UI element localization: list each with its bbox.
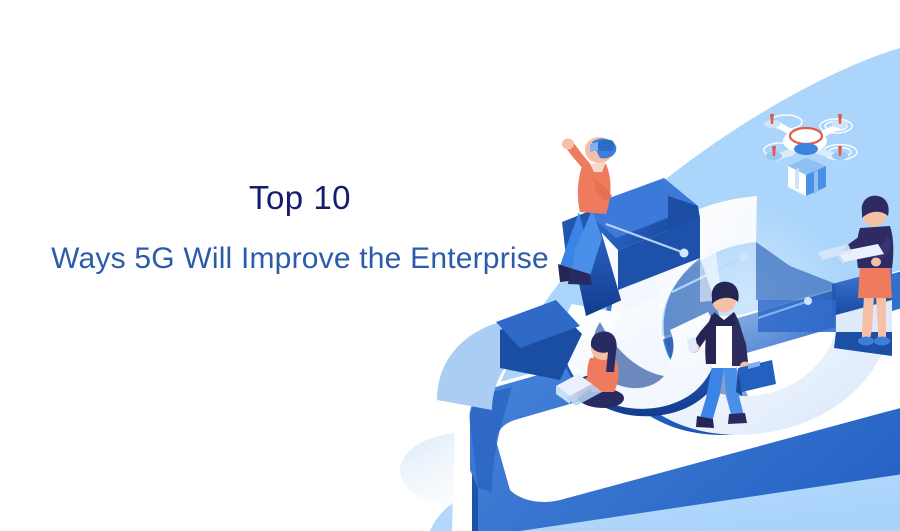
banner-container: Top 10 Ways 5G Will Improve the Enterpri… <box>0 0 900 531</box>
package-ribbon-left <box>795 168 799 190</box>
headline-block: Top 10 Ways 5G Will Improve the Enterpri… <box>0 178 600 277</box>
vr-person-hand <box>562 139 574 150</box>
vr-headset-visor <box>598 140 614 151</box>
gift-package <box>788 158 826 196</box>
headline-line-1: Top 10 <box>0 178 600 218</box>
standing-shoe-left <box>858 337 874 346</box>
drone-underbody <box>794 143 818 155</box>
delivery-drone <box>764 114 857 196</box>
package-ribbon-right <box>814 170 818 194</box>
headline-line-2: Ways 5G Will Improve the Enterprise <box>0 240 600 278</box>
standing-hand-right <box>871 258 881 267</box>
walker-shoe-front <box>728 413 747 424</box>
standing-shoe-right <box>874 337 890 346</box>
standing-skirt <box>858 264 892 298</box>
